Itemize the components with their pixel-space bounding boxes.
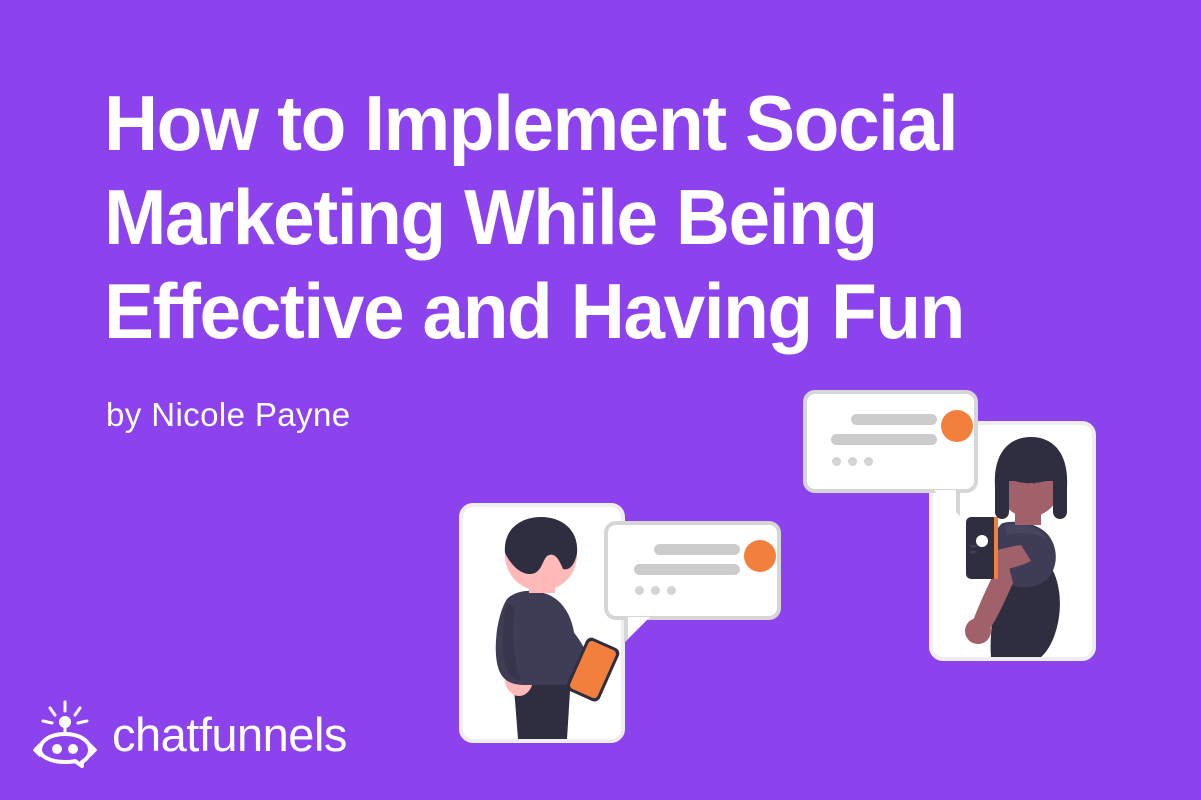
byline: by Nicole Payne xyxy=(106,396,350,434)
typing-dot xyxy=(848,457,857,466)
typing-dot xyxy=(651,586,660,595)
cover-canvas: How to Implement Social Marketing While … xyxy=(0,0,1201,800)
chat-bubble-tail xyxy=(624,617,650,643)
man-with-phone-card xyxy=(459,503,625,743)
chat-bubble-text-bar xyxy=(634,564,740,575)
chat-bubble-text-bar xyxy=(851,414,937,425)
headline-line-3: Effective and Having Fun xyxy=(104,264,987,358)
typing-dot xyxy=(635,586,644,595)
chat-bubble-avatar-icon xyxy=(941,410,973,442)
typing-dot xyxy=(864,457,873,466)
chat-bubble-avatar-icon xyxy=(744,540,776,572)
chat-bubble-text-bar xyxy=(654,544,740,555)
chat-bubble-text-bar xyxy=(831,434,937,445)
chatbot-robot-head-icon xyxy=(32,700,98,768)
typing-dot xyxy=(832,457,841,466)
headline-line-1: How to Implement Social xyxy=(104,76,987,170)
chatfunnels-logo[interactable]: chatfunnels xyxy=(32,700,347,768)
chat-bubble-top-right xyxy=(803,390,978,493)
page-title: How to Implement Social Marketing While … xyxy=(104,76,1024,358)
chatfunnels-wordmark: chatfunnels xyxy=(112,707,347,762)
typing-dot xyxy=(667,586,676,595)
headline-line-2: Marketing While Being xyxy=(104,170,987,264)
man-with-phone-illustration xyxy=(463,507,621,739)
chat-bubble-center xyxy=(604,521,781,620)
